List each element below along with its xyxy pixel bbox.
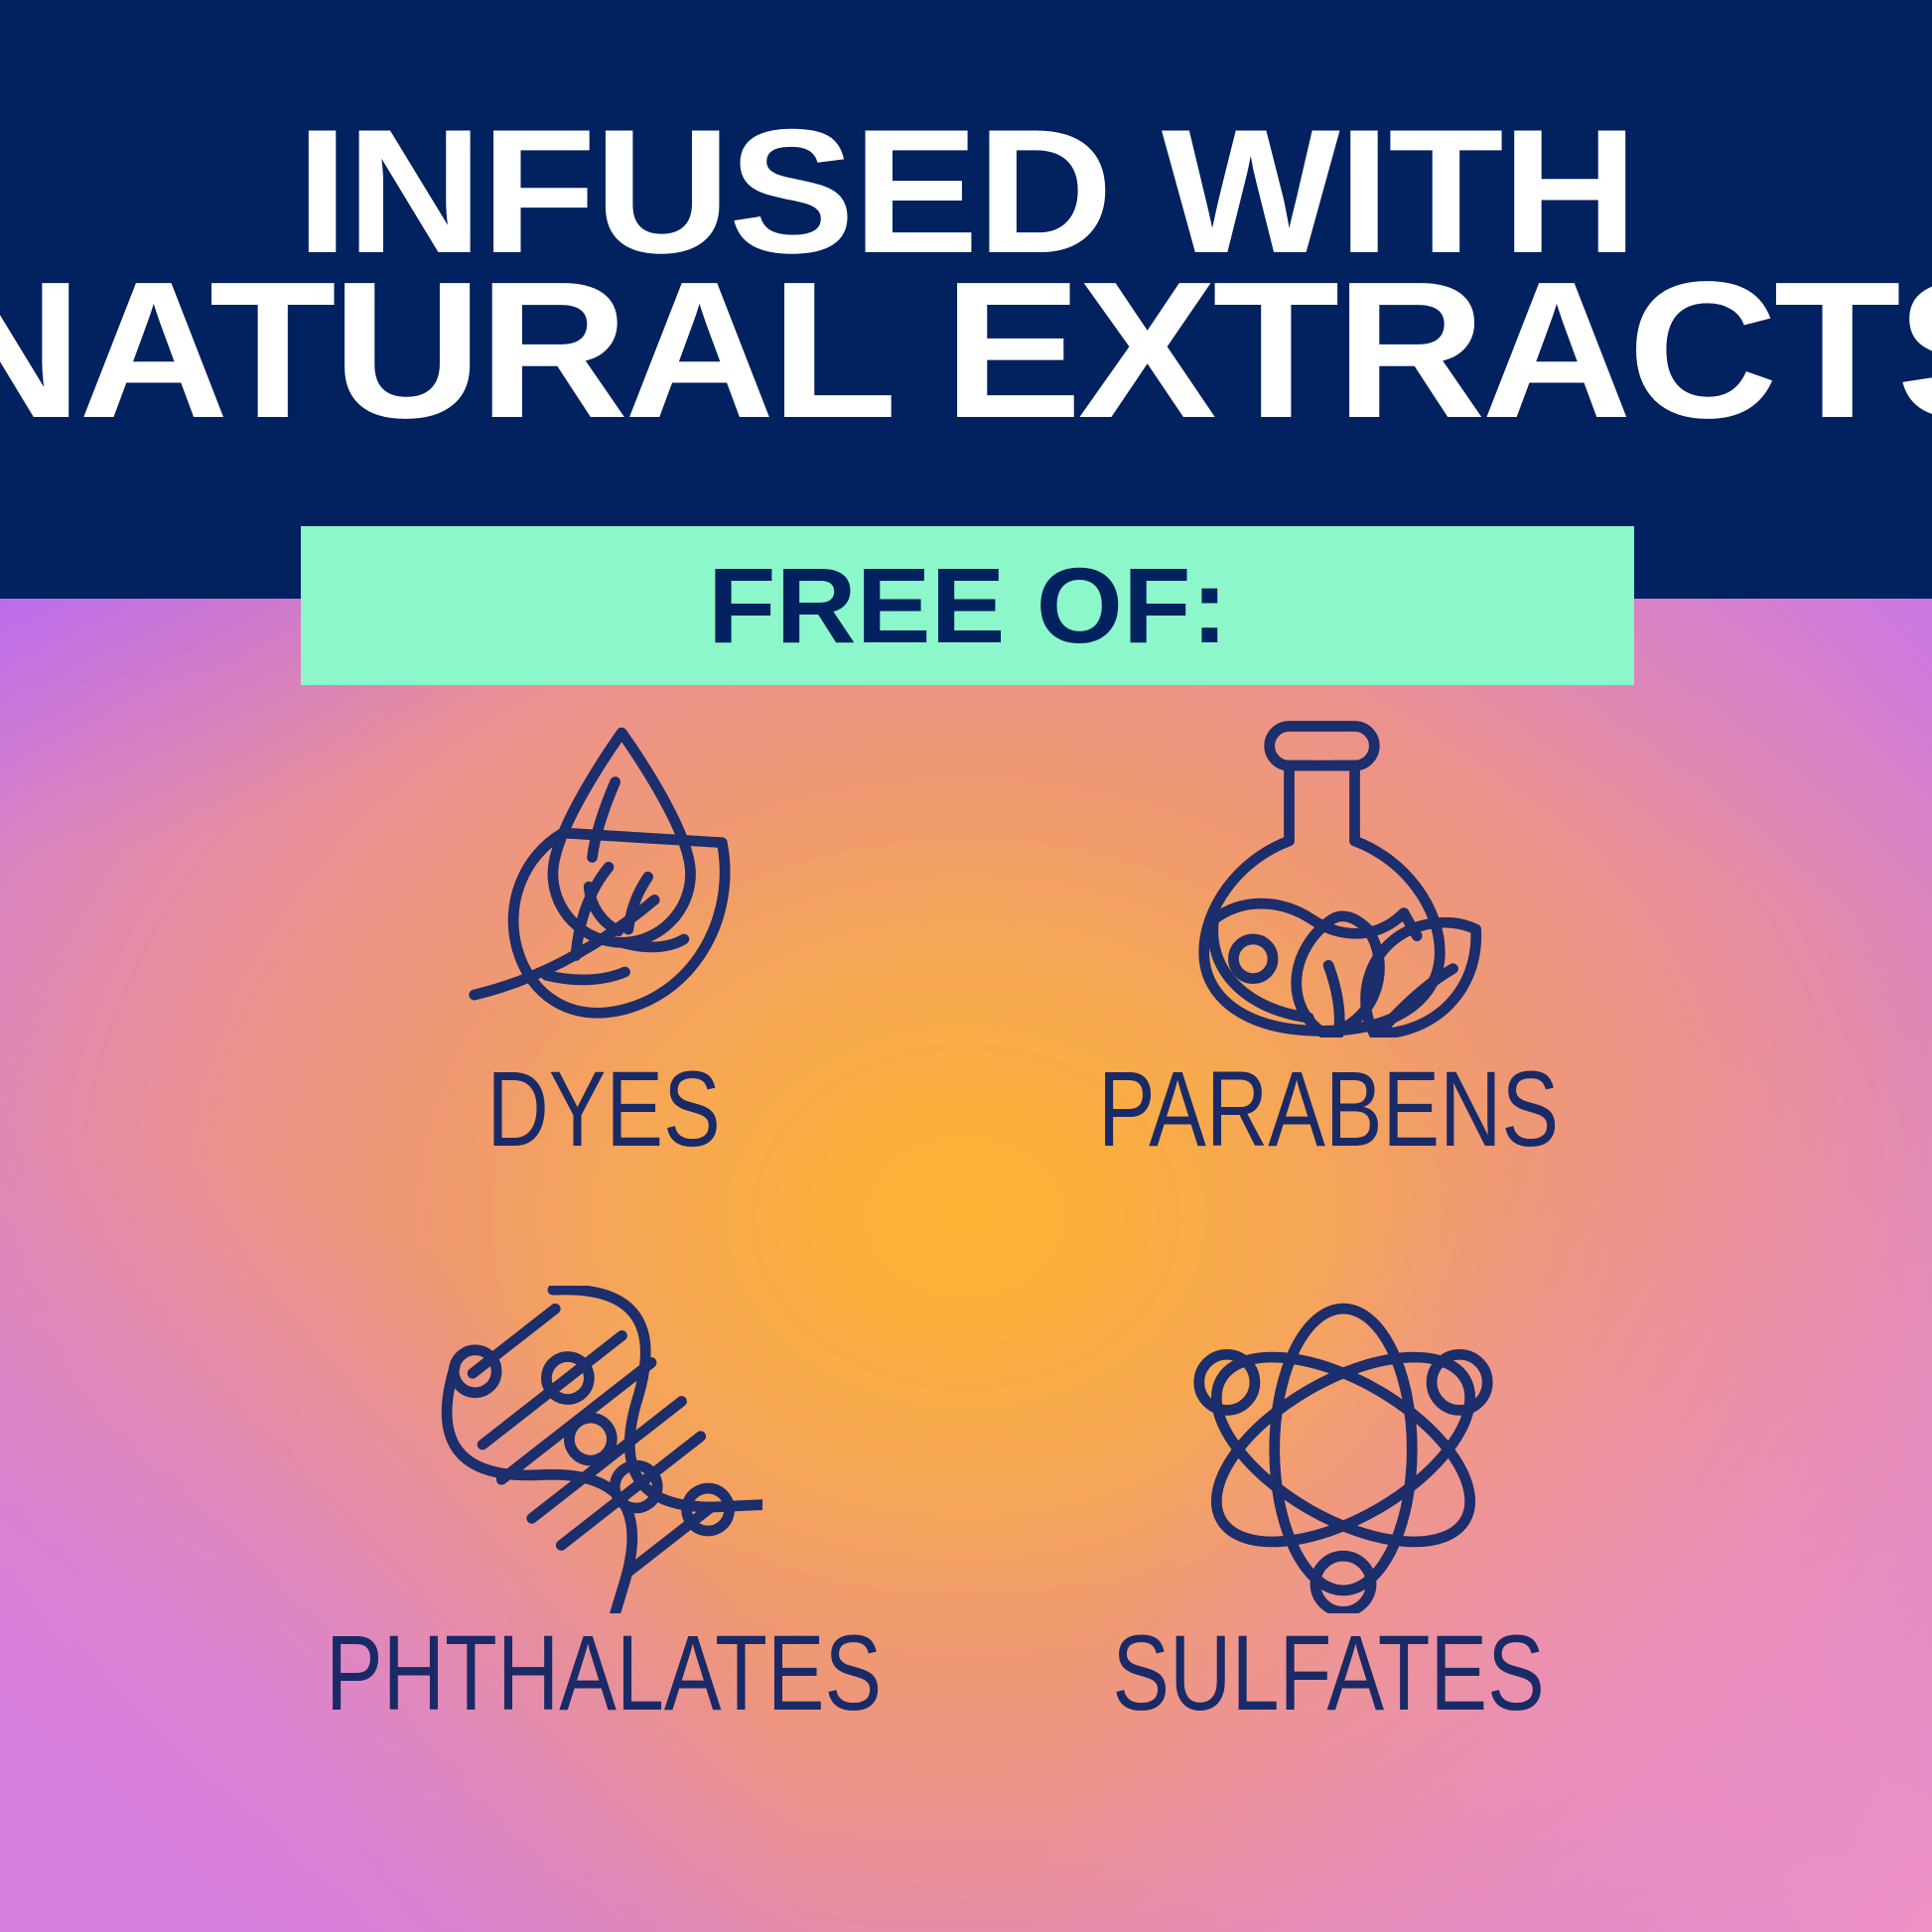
headline: INFUSED WITH NATURAL EXTRACTS xyxy=(0,115,1932,435)
free-of-promo-graphic: INFUSED WITH NATURAL EXTRACTS FREE OF: xyxy=(0,0,1932,1932)
dna-helix-icon xyxy=(435,1286,762,1613)
ingredient-item-parabens: PARABENS xyxy=(966,710,1691,1274)
free-of-banner: FREE OF: xyxy=(301,526,1634,685)
ingredient-label-phthalates: PHTHALATES xyxy=(326,1619,882,1726)
ingredient-label-dyes: DYES xyxy=(486,1055,720,1163)
ingredient-item-phthalates: PHTHALATES xyxy=(241,1274,966,1838)
ingredient-grid: DYES xyxy=(241,710,1691,1837)
atom-icon xyxy=(1179,1286,1507,1613)
ingredient-item-sulfates: SULFATES xyxy=(966,1274,1691,1838)
droplet-leaf-icon xyxy=(445,710,772,1037)
headline-line-2: NATURAL EXTRACTS xyxy=(0,267,1932,435)
ingredient-label-sulfates: SULFATES xyxy=(1112,1619,1544,1726)
free-of-label: FREE OF: xyxy=(707,552,1227,659)
ingredient-item-dyes: DYES xyxy=(241,710,966,1274)
ingredient-label-parabens: PARABENS xyxy=(1098,1055,1559,1163)
flask-leaves-icon xyxy=(1174,710,1502,1037)
